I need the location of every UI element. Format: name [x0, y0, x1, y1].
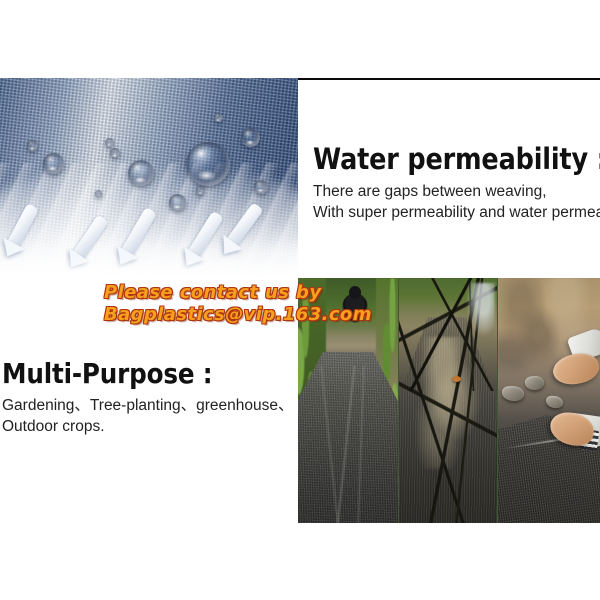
- water-droplet: [254, 180, 268, 194]
- water-droplet: [105, 138, 114, 147]
- sky-highlight: [466, 283, 496, 337]
- water-droplet: [241, 128, 260, 147]
- water-droplet: [214, 113, 223, 122]
- ground-stone: [502, 386, 524, 401]
- body-line: With super permeability and water permea…: [313, 202, 600, 223]
- water-droplet: [43, 153, 64, 174]
- fabric-creases: [310, 366, 386, 523]
- water-droplet: [110, 148, 120, 158]
- body-line: There are gaps between weaving,: [313, 181, 600, 202]
- section-multi-purpose: Multi-Purpose : Gardening、Tree-planting、…: [2, 358, 292, 437]
- photo-hands-laying-fabric: [498, 278, 600, 523]
- water-permeability-body: There are gaps between weaving, With sup…: [313, 181, 600, 223]
- water-droplet: [95, 190, 102, 197]
- photo-fabric-greenhouse-trellis: [399, 278, 499, 523]
- water-permeability-heading: Water permeability :: [313, 143, 568, 175]
- section-water-permeability: Water permeability : There are gaps betw…: [313, 143, 600, 223]
- contact-line: Please contact us by: [104, 282, 372, 304]
- hero-water-permeability-image: [0, 78, 298, 290]
- water-droplet: [27, 140, 38, 151]
- body-line: Gardening、Tree-planting、greenhouse、: [2, 395, 292, 416]
- water-droplet: [169, 194, 186, 211]
- body-line: Outdoor crops.: [2, 416, 292, 437]
- header-divider-rule: [298, 78, 600, 80]
- water-droplet: [196, 186, 205, 195]
- water-droplet: [186, 142, 230, 186]
- contact-email: Bagplastics@vip.163.com: [104, 304, 372, 326]
- multi-purpose-heading: Multi-Purpose :: [2, 358, 257, 389]
- ground-pebble: [452, 376, 461, 382]
- water-droplet: [128, 160, 154, 186]
- contact-info-overlay: Please contact us by Bagplastics@vip.163…: [104, 282, 372, 326]
- product-feature-sheet: Water permeability : There are gaps betw…: [0, 0, 600, 600]
- multi-purpose-body: Gardening、Tree-planting、greenhouse、 Outd…: [2, 395, 292, 437]
